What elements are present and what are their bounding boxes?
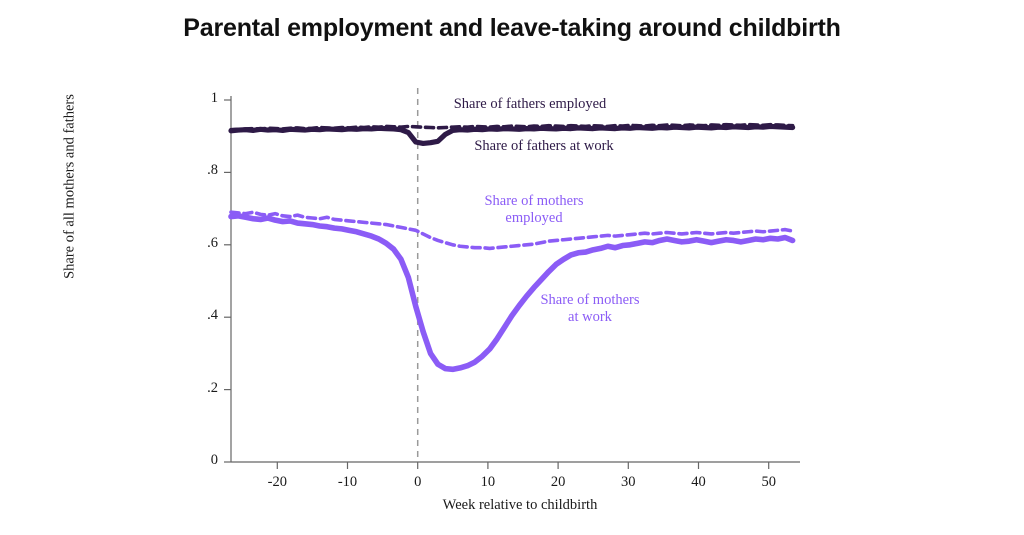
y-tick-label-4: .8 bbox=[184, 162, 218, 179]
annotation-fathers-employed: Share of fathers employed bbox=[430, 96, 630, 113]
x-tick-label-0: -20 bbox=[254, 474, 300, 491]
x-tick-label-5: 30 bbox=[605, 474, 651, 491]
line-chart bbox=[0, 0, 1024, 535]
annotation-mothers-employed: Share of mothers employed bbox=[444, 193, 624, 227]
x-tick-marks bbox=[277, 462, 768, 469]
y-tick-label-0: 0 bbox=[184, 452, 218, 469]
y-axis-label: Share of all mothers and fathers bbox=[62, 57, 79, 317]
y-tick-label-5: 1 bbox=[184, 90, 218, 107]
x-tick-label-3: 10 bbox=[465, 474, 511, 491]
chart-plot-area: Share of all mothers and fathers Week re… bbox=[0, 0, 1024, 535]
y-tick-label-1: .2 bbox=[184, 380, 218, 397]
x-tick-label-4: 20 bbox=[535, 474, 581, 491]
y-tick-label-3: .6 bbox=[184, 235, 218, 252]
series-group bbox=[231, 125, 793, 370]
annotation-fathers-at-work: Share of fathers at work bbox=[444, 138, 644, 155]
x-tick-label-7: 50 bbox=[746, 474, 792, 491]
y-tick-label-2: .4 bbox=[184, 307, 218, 324]
x-axis-label: Week relative to childbirth bbox=[320, 497, 720, 514]
y-tick-marks bbox=[224, 100, 231, 462]
x-tick-label-2: 0 bbox=[395, 474, 441, 491]
slide-canvas: Parental employment and leave-taking aro… bbox=[0, 0, 1024, 535]
annotation-mothers-at-work: Share of mothers at work bbox=[500, 292, 680, 326]
x-tick-label-6: 40 bbox=[676, 474, 722, 491]
x-tick-label-1: -10 bbox=[325, 474, 371, 491]
